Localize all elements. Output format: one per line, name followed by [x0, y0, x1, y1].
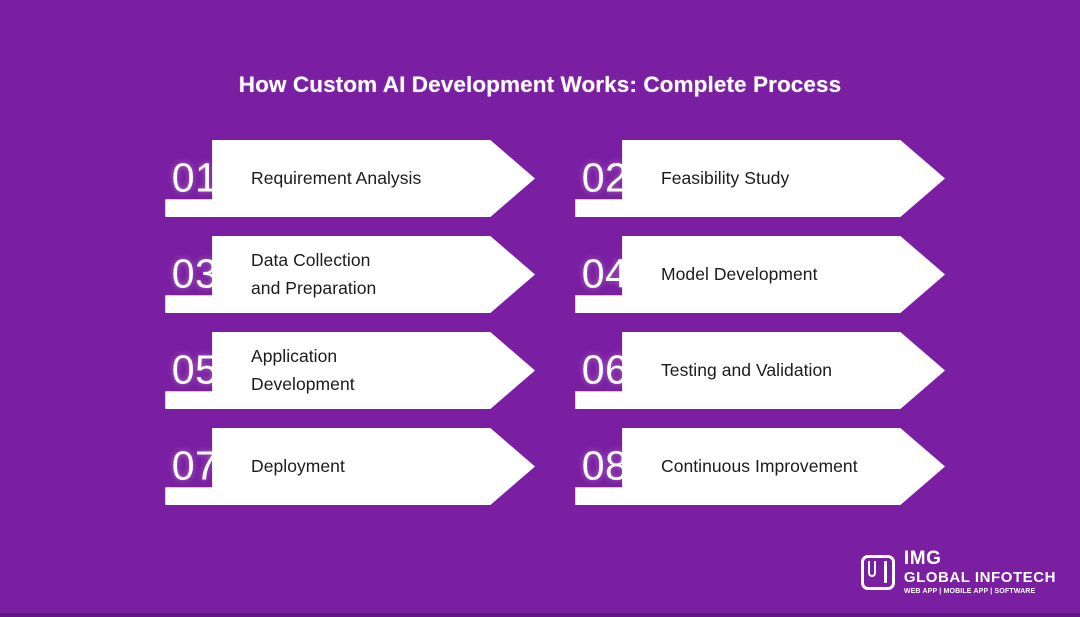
process-step-02[interactable]: 02 Feasibility Study — [573, 140, 945, 217]
page-title: How Custom AI Development Works: Complet… — [0, 72, 1080, 98]
process-step-03[interactable]: 03 Data Collection and Preparation — [163, 236, 535, 313]
step-label: Testing and Validation — [661, 332, 889, 409]
brand-name: IMG — [904, 549, 1056, 568]
brand-logo-text: IMG GLOBAL INFOTECH WEB APP | MOBILE APP… — [904, 549, 1056, 595]
brand-tagline: WEB APP | MOBILE APP | SOFTWARE — [904, 588, 1056, 595]
process-step-05[interactable]: 05 Application Development — [163, 332, 535, 409]
infographic-poster: How Custom AI Development Works: Complet… — [0, 0, 1080, 617]
brand-logo: IMG GLOBAL INFOTECH WEB APP | MOBILE APP… — [861, 549, 1056, 595]
brand-subtitle: GLOBAL INFOTECH — [904, 570, 1056, 585]
bottom-edge-strip — [0, 613, 1080, 617]
step-label: Continuous Improvement — [661, 428, 889, 505]
process-step-06[interactable]: 06 Testing and Validation — [573, 332, 945, 409]
step-label: Requirement Analysis — [251, 140, 479, 217]
img-logo-icon — [861, 555, 895, 590]
step-label: Deployment — [251, 428, 479, 505]
process-step-07[interactable]: 07 Deployment — [163, 428, 535, 505]
step-label: Feasibility Study — [661, 140, 889, 217]
process-step-04[interactable]: 04 Model Development — [573, 236, 945, 313]
process-step-08[interactable]: 08 Continuous Improvement — [573, 428, 945, 505]
step-label: Data Collection and Preparation — [251, 236, 479, 313]
process-steps-grid: 01 Requirement Analysis 02 Feasibility S… — [163, 140, 945, 505]
process-step-01[interactable]: 01 Requirement Analysis — [163, 140, 535, 217]
step-label: Application Development — [251, 332, 479, 409]
step-label: Model Development — [661, 236, 889, 313]
